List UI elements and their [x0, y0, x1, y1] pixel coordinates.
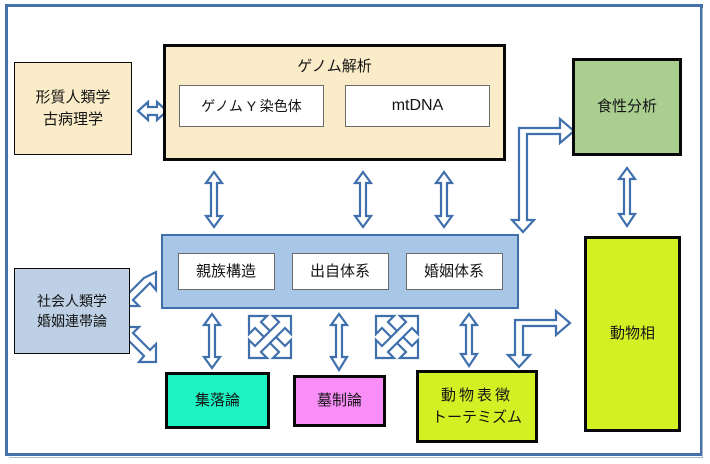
- node-diet-analysis-label: 食性分析: [597, 96, 657, 118]
- node-animal-symbolism-line-2: トーテミズム: [432, 407, 522, 429]
- node-animal-symbolism[interactable]: 動物表徴 トーテミズム: [416, 370, 538, 443]
- node-social-anthropology-line-1: 社会人類学: [37, 291, 107, 311]
- genome-subbox-row: ゲノム Y 染色体 mtDNA: [166, 85, 503, 127]
- node-descent-system[interactable]: 出自体系: [292, 253, 389, 290]
- node-kinship-structure[interactable]: 親族構造: [178, 253, 275, 290]
- node-physical-anthropology-line-1: 形質人類学: [35, 87, 110, 109]
- node-mtdna-label: mtDNA: [392, 94, 444, 117]
- node-genome-y-chromosome-label: ゲノム Y 染色体: [201, 96, 301, 116]
- node-kinship-structure-label: 親族構造: [196, 261, 256, 283]
- node-marriage-system-label: 婚姻体系: [424, 261, 484, 283]
- diagram-canvas: 形質人類学 古病理学 ゲノム解析 ゲノム Y 染色体 mtDNA 食性分析 社会…: [0, 0, 710, 464]
- node-marriage-system[interactable]: 婚姻体系: [406, 253, 503, 290]
- node-fauna-label: 動物相: [610, 323, 655, 345]
- node-settlement-theory-label: 集落論: [195, 390, 240, 412]
- node-social-anthropology[interactable]: 社会人類学 婚姻連帯論: [14, 268, 130, 354]
- node-physical-anthropology-line-2: 古病理学: [43, 109, 103, 131]
- node-fauna[interactable]: 動物相: [584, 236, 681, 432]
- node-diet-analysis[interactable]: 食性分析: [572, 58, 682, 156]
- node-genome-analysis[interactable]: ゲノム解析 ゲノム Y 染色体 mtDNA: [163, 44, 506, 161]
- node-grave-system-theory[interactable]: 墓制論: [293, 375, 386, 427]
- node-social-anthropology-line-2: 婚姻連帯論: [37, 311, 107, 331]
- node-genome-analysis-title: ゲノム解析: [297, 56, 372, 78]
- node-grave-system-theory-label: 墓制論: [317, 390, 362, 412]
- node-physical-anthropology[interactable]: 形質人類学 古病理学: [14, 62, 132, 155]
- node-animal-symbolism-line-1: 動物表徴: [441, 385, 513, 407]
- node-mtdna[interactable]: mtDNA: [345, 85, 490, 127]
- node-descent-system-label: 出自体系: [310, 261, 370, 283]
- node-settlement-theory[interactable]: 集落論: [165, 372, 270, 429]
- node-kinship-group[interactable]: 親族構造 出自体系 婚姻体系: [161, 234, 519, 309]
- node-genome-y-chromosome[interactable]: ゲノム Y 染色体: [179, 85, 324, 127]
